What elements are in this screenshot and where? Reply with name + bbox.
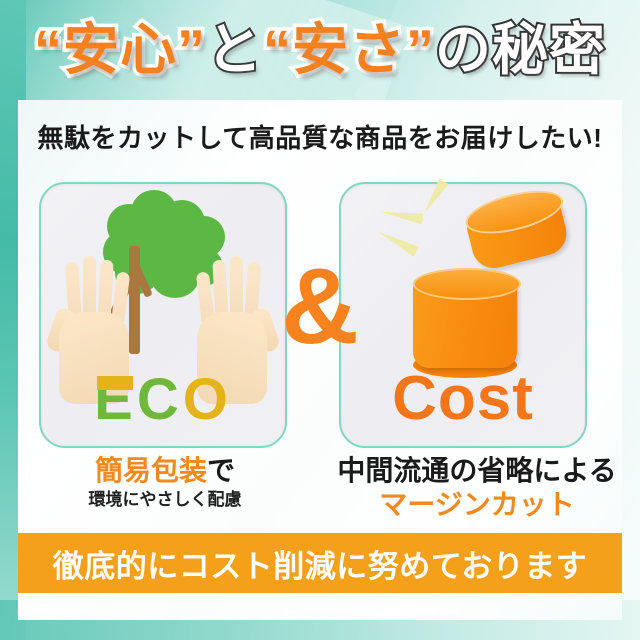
headline-quote-open: “ (34, 18, 63, 81)
subtitle: 無駄をカットして高品質な商品をお届けしたい! (18, 118, 622, 155)
eco-letter-c: C (137, 367, 183, 432)
headline-tail: の秘密 (435, 18, 606, 81)
headline-word-yasusa: 安さ (292, 18, 406, 81)
sparkle-ray-3 (419, 178, 448, 216)
caption-eco-main-dark: で (207, 455, 235, 486)
bottom-banner: 徹底的にコスト削減に努めております (18, 533, 622, 593)
sparkle-ray-1 (375, 226, 419, 256)
caption-eco-main-orange: 簡易包装 (95, 455, 207, 486)
coin-lid-icon (461, 183, 572, 278)
card-eco[interactable]: ECO (39, 182, 287, 448)
promo-poster: “安心”と“安さ”の秘密 無駄をカットして高品質な商品をお届けしたい! (0, 0, 640, 640)
eco-letter-e-accent (97, 376, 133, 390)
headline: “安心”と“安さ”の秘密 (0, 12, 640, 88)
headline-quote-open-2: “ (263, 18, 292, 81)
headline-quote-close-2: ” (406, 18, 435, 81)
eco-letter-o: O (183, 367, 232, 432)
caption-cost-highlight: マージンカット (336, 488, 618, 522)
content-panel: 無駄をカットして高品質な商品をお届けしたい! (18, 100, 622, 620)
caption-eco-main: 簡易包装で (24, 454, 306, 488)
bottom-banner-text: 徹底的にコスト削減に努めております (53, 541, 588, 586)
caption-eco-sub: 環境にやさしく配慮 (24, 488, 306, 512)
caption-eco: 簡易包装で 環境にやさしく配慮 (24, 454, 306, 512)
caption-cost: 中間流通の省略による マージンカット (336, 454, 618, 522)
header: “安心”と“安さ”の秘密 (0, 0, 640, 100)
headline-quote-close-1: ” (177, 18, 206, 81)
card-cost[interactable]: Cost (339, 182, 587, 448)
ampersand-separator: & (270, 252, 370, 360)
cost-wordmark: Cost (341, 366, 585, 432)
headline-word-anshin: 安心 (63, 18, 177, 81)
sparkle-ray-2 (380, 206, 423, 224)
headline-connector: と (206, 18, 263, 81)
coin-top-face (413, 268, 521, 300)
caption-cost-main: 中間流通の省略による (336, 454, 618, 488)
eco-wordmark: ECO (41, 370, 285, 430)
